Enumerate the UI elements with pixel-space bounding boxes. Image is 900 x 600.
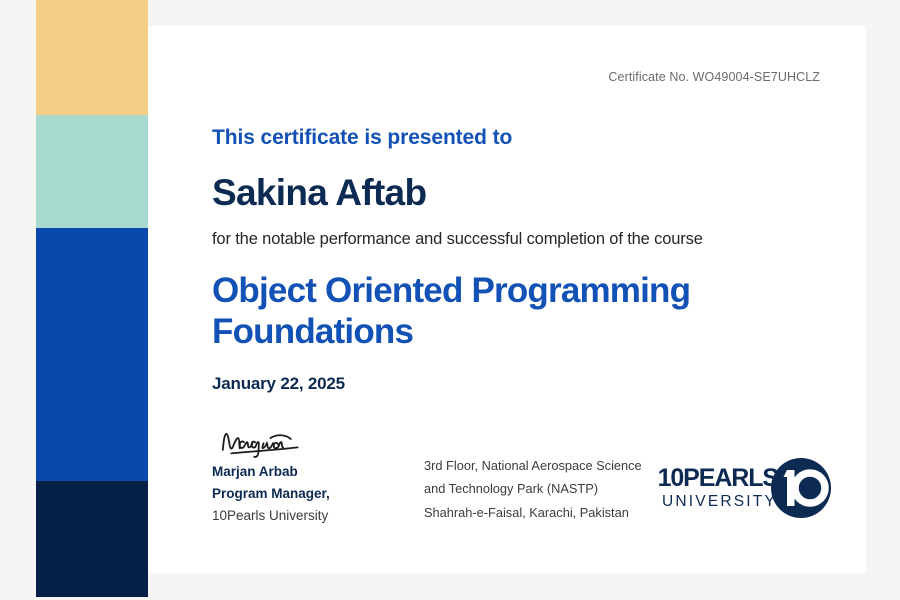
color-band-navy (36, 481, 148, 597)
certificate-card: Certificate No. WO49004-SE7UHCLZ This ce… (148, 26, 866, 573)
issue-date: January 22, 2025 (212, 374, 826, 394)
logo-wordmark: 10PEARLS UNIVERSITY (658, 466, 778, 510)
achievement-description: for the notable performance and successf… (212, 230, 826, 249)
address-line: Shahrah-e-Faisal, Karachi, Pakistan (424, 501, 674, 524)
signatory-name: Marjan Arbab (212, 461, 392, 483)
tenpearls-circle-emblem-icon (770, 457, 832, 519)
decorative-color-bar (36, 0, 148, 597)
signatory-organization: 10Pearls University (212, 505, 392, 527)
certificate-serial-number: Certificate No. WO49004-SE7UHCLZ (608, 70, 820, 84)
color-band-mint (36, 115, 148, 228)
certificate-page: Certificate No. WO49004-SE7UHCLZ This ce… (0, 0, 900, 600)
color-band-blue (36, 228, 148, 481)
address-block: 3rd Floor, National Aerospace Science an… (424, 454, 674, 524)
handwritten-signature-icon (216, 427, 344, 461)
recipient-name: Sakina Aftab (212, 174, 826, 213)
signatory-role: Program Manager, (212, 483, 392, 505)
logo-secondary-text: UNIVERSITY (662, 494, 777, 510)
logo-primary-text: 10PEARLS (658, 466, 778, 491)
brand-logo: 10PEARLS UNIVERSITY (658, 457, 832, 519)
color-band-gold (36, 0, 148, 115)
presented-to-heading: This certificate is presented to (212, 126, 826, 150)
address-line: 3rd Floor, National Aerospace Science (424, 454, 674, 477)
certificate-footer: Marjan Arbab Program Manager, 10Pearls U… (212, 417, 832, 527)
certificate-body: This certificate is presented to Sakina … (212, 126, 826, 394)
address-line: and Technology Park (NASTP) (424, 477, 674, 500)
course-title: Object Oriented Programming Foundations (212, 270, 792, 353)
signature-block: Marjan Arbab Program Manager, 10Pearls U… (212, 427, 392, 527)
